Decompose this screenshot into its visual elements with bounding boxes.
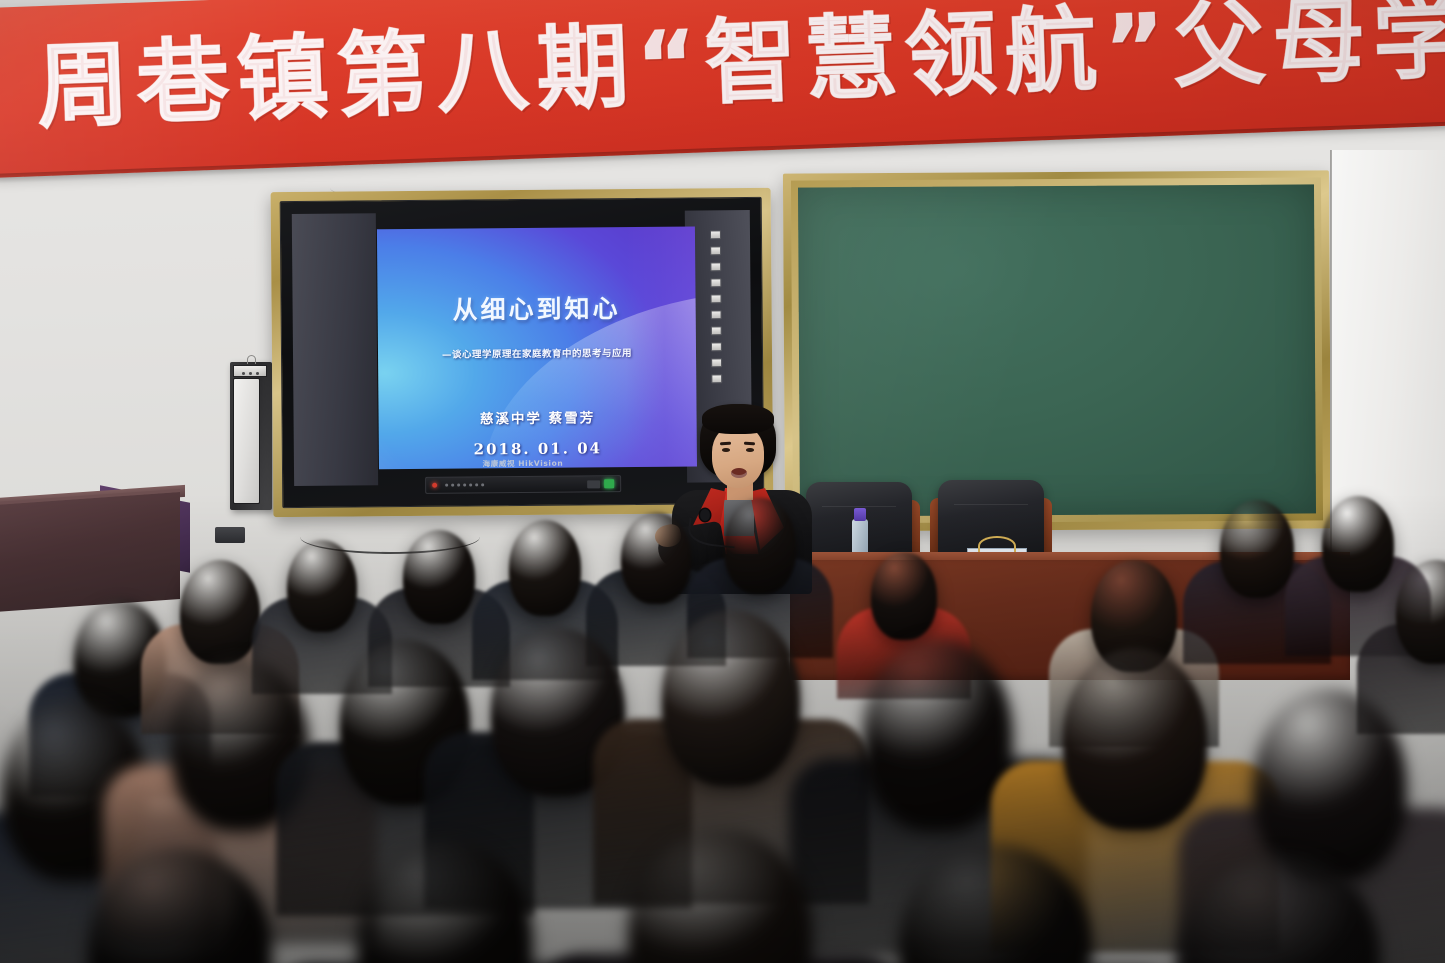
audience-member-head — [629, 830, 811, 963]
lecture-hall-photo: 周巷镇第八期“智慧领航”父母学堂公益讲座 — [0, 0, 1445, 963]
audience-member-head — [403, 530, 474, 624]
presentation-slide: 从细心到知心 —谈心理学原理在家庭教育中的思考与应用 慈溪中学 蔡雪芳 2018… — [377, 226, 697, 469]
touch-key-8[interactable] — [711, 342, 722, 351]
speaker-grille — [233, 378, 260, 504]
speaker-eye-right — [746, 448, 754, 452]
speaker-led-3 — [256, 372, 259, 375]
wall-power-socket — [215, 527, 245, 543]
audience-member-head — [287, 540, 357, 632]
panel-touch-keys[interactable] — [710, 230, 723, 383]
green-chalkboard — [783, 170, 1331, 531]
slide-subtitle: —谈心理学原理在家庭教育中的思考与应用 — [378, 344, 696, 361]
audience-member-head — [724, 498, 797, 594]
control-button-5[interactable] — [469, 483, 472, 486]
audience-member-head — [1220, 500, 1294, 598]
touch-key-7[interactable] — [711, 326, 722, 335]
speaker-fringe — [702, 404, 774, 434]
event-banner-text: 周巷镇第八期“智慧领航”父母学堂公益讲座 — [35, 0, 1445, 148]
audience-member-head — [1396, 560, 1445, 664]
audience-member — [330, 840, 560, 963]
speaker-eye-left — [722, 448, 730, 452]
slide-author: 慈溪中学 蔡雪芳 — [378, 405, 696, 428]
control-button-4[interactable] — [463, 483, 466, 486]
audience-member — [600, 830, 840, 963]
audience-member-head — [1063, 648, 1207, 830]
audience-member-head — [180, 560, 259, 664]
audience-member-head — [621, 512, 691, 604]
audience-member — [60, 850, 300, 963]
touch-key-6[interactable] — [711, 310, 722, 319]
display-control-strip[interactable] — [425, 475, 621, 494]
slide-title: 从细心到知心 — [377, 288, 695, 327]
touch-key-4[interactable] — [710, 278, 721, 287]
audience-member-head — [1181, 855, 1379, 963]
control-button-1[interactable] — [445, 484, 448, 487]
touch-key-5[interactable] — [710, 294, 721, 303]
lectern-podium — [0, 489, 180, 613]
touch-key-3[interactable] — [710, 262, 721, 271]
audience-member-head — [1254, 690, 1406, 880]
audience-member-head — [871, 552, 938, 640]
control-button-3[interactable] — [457, 484, 460, 487]
status-led-icon — [604, 479, 614, 488]
speaker-face — [712, 426, 764, 488]
speaker-mouth — [731, 468, 747, 478]
audience-member — [870, 845, 1120, 963]
touch-key-9[interactable] — [711, 358, 722, 367]
wall-mounted-speaker — [230, 362, 272, 510]
bottle-cap — [854, 508, 866, 521]
audience-member-head — [662, 610, 800, 786]
audience-member-head — [358, 840, 533, 963]
audience-member-head — [89, 850, 271, 963]
panel-left-dark-area — [292, 213, 378, 486]
speaker-hook-icon — [247, 355, 256, 364]
speaker-led-1 — [242, 372, 245, 375]
control-button-2[interactable] — [451, 484, 454, 487]
speaker-led-2 — [249, 372, 252, 375]
ir-receiver-icon — [587, 480, 600, 488]
chalkboard-surface — [798, 184, 1316, 516]
audience-member-head — [900, 845, 1090, 963]
touch-key-2[interactable] — [710, 246, 721, 255]
touch-key-10[interactable] — [711, 374, 722, 383]
audience-member — [1150, 855, 1410, 963]
touch-key-1[interactable] — [710, 230, 721, 239]
control-button-6[interactable] — [475, 483, 478, 486]
power-led-icon — [432, 483, 437, 488]
audience-member-head — [509, 520, 582, 616]
speaker-control-band — [233, 365, 267, 377]
control-button-7[interactable] — [481, 483, 484, 486]
control-buttons-group[interactable] — [445, 483, 484, 486]
